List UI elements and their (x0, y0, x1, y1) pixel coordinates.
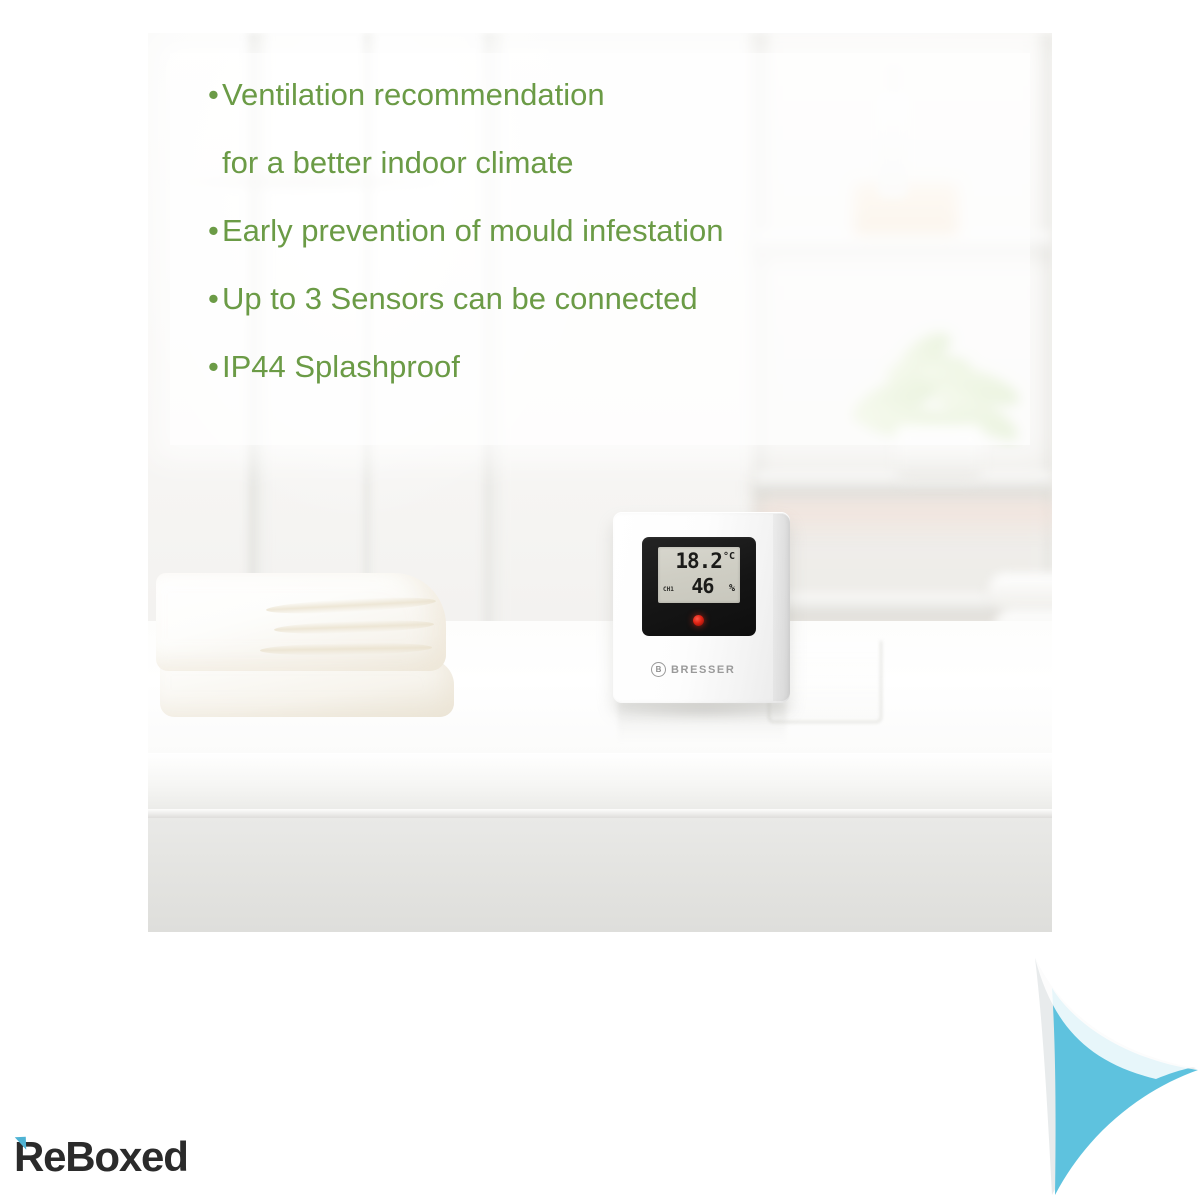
bresser-wordmark: BRESSER (671, 664, 735, 676)
feature-bullet-label: IP44 Splashproof (222, 351, 460, 382)
towel-fold-line (260, 642, 432, 657)
feature-bullet-item: • for a better indoor climate (208, 147, 1020, 178)
feature-text-overlay: • Ventilation recommendation • for a bet… (170, 53, 1030, 445)
device-reflection (618, 701, 786, 749)
towel-fold-line (274, 618, 434, 636)
reboxed-wordmark: ReBoxed (14, 1133, 188, 1180)
lcd-display: 18.2 °C CH1 46 % (658, 547, 740, 603)
lcd-channel-label: CH1 (663, 586, 674, 593)
cabinet-front (148, 818, 1052, 932)
feature-bullet-item: • IP44 Splashproof (208, 351, 1020, 382)
lcd-temperature-unit: °C (723, 552, 735, 562)
towel-upper (156, 573, 446, 671)
lcd-temperature-value: 18.2 (675, 551, 722, 572)
bullet-dot-icon: • (208, 79, 222, 110)
towel-fold-line (266, 595, 436, 617)
bullet-dot-icon: • (208, 283, 222, 314)
feature-bullet-item: • Early prevention of mould infestation (208, 215, 1020, 246)
countertop-front-edge (148, 753, 1052, 811)
rolled-towel (988, 573, 1052, 607)
lcd-humidity-row: CH1 46 % (663, 576, 735, 596)
bresser-sensor-device: 18.2 °C CH1 46 % B BRESSER (613, 512, 790, 703)
product-photo: 18.2 °C CH1 46 % B BRESSER • Ventilation… (148, 33, 1052, 932)
device-front-panel: 18.2 °C CH1 46 % (642, 537, 756, 636)
peel-shape-icon (880, 950, 1200, 1200)
feature-bullet-label: Early prevention of mould infestation (222, 215, 723, 246)
reboxed-logo: ReBoxed (14, 1136, 188, 1178)
feature-bullet-label: Ventilation recommendation (222, 79, 605, 110)
bresser-mark-icon: B (651, 662, 666, 677)
feature-bullet-item: • Ventilation recommendation (208, 79, 1020, 110)
lcd-humidity-value: 46 (691, 576, 713, 596)
feature-bullet-label: Up to 3 Sensors can be connected (222, 283, 698, 314)
feature-bullet-item: • Up to 3 Sensors can be connected (208, 283, 1020, 314)
bullet-dot-icon: • (208, 351, 222, 382)
reboxed-accent-icon (15, 1137, 26, 1150)
bullet-dot-icon: • (208, 215, 222, 246)
feature-bullet-label: for a better indoor climate (222, 147, 574, 178)
led-indicator-icon (693, 615, 704, 626)
device-brand-logo: B BRESSER (651, 662, 735, 677)
lcd-temperature-row: 18.2 °C (658, 551, 735, 572)
warm-wall-band (758, 503, 1052, 541)
countertop-lip (148, 809, 1052, 818)
device-side-shade (773, 514, 790, 701)
feature-bullet-list: • Ventilation recommendation • for a bet… (208, 79, 1020, 419)
folded-towel-stack (156, 573, 456, 733)
lcd-humidity-unit: % (729, 583, 735, 594)
bullet-dot-icon: • (208, 147, 222, 178)
blue-page-peel-corner (880, 950, 1200, 1200)
